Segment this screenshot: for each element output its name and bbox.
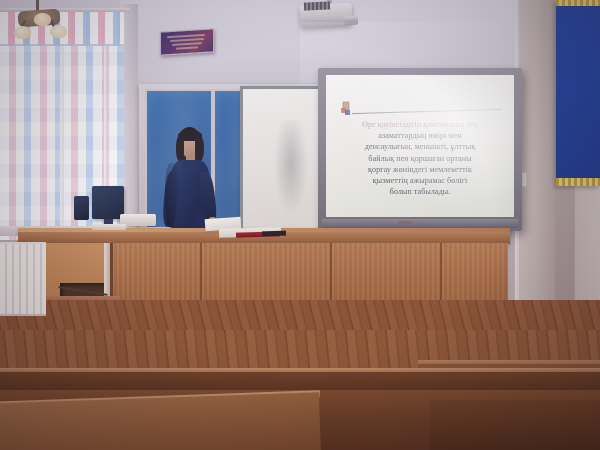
presenter-shading xyxy=(165,163,179,229)
notebook-stack[interactable] xyxy=(92,224,126,230)
slide-line: Өрт қауіпсіздігін қамтамасыз ету xyxy=(333,119,507,130)
projected-slide[interactable]: Өрт қауіпсіздігін қамтамасыз ету азаматт… xyxy=(326,75,514,217)
bulletin-gold-trim-bottom xyxy=(556,178,600,186)
projector-lens xyxy=(344,16,358,26)
raised-platform xyxy=(0,392,321,450)
bulletin-gold-trim-top xyxy=(556,0,600,6)
board-shadow xyxy=(274,120,308,216)
chandelier-shade xyxy=(14,26,31,39)
slide-line: денсаулығын, меншікті, ұлттық xyxy=(333,141,507,152)
chandelier-shade xyxy=(34,13,51,26)
projector-vent xyxy=(304,1,330,10)
computer-monitor[interactable] xyxy=(92,186,124,219)
blue-bulletin-board xyxy=(556,0,600,186)
slide-line: азаматтардың өмірі мен xyxy=(333,130,507,141)
secondary-screen[interactable] xyxy=(74,196,89,220)
presenter-hair-side xyxy=(176,135,184,161)
slide-body-text: Өрт қауіпсіздігін қамтамасыз ету азаматт… xyxy=(333,119,507,197)
chandelier-shade xyxy=(50,25,67,38)
slide-divider-rule xyxy=(352,109,502,114)
wall-pillar xyxy=(519,0,555,300)
presenter-hair-side xyxy=(195,135,204,162)
right-riser xyxy=(430,400,600,450)
classroom-photo: Өрт қауіпсіздігін қамтамасыз ету азаматт… xyxy=(0,0,600,450)
slide-line: болып табылады. xyxy=(333,186,507,197)
window-mullion xyxy=(60,20,64,240)
wall-banner xyxy=(160,28,214,55)
window-jamb xyxy=(122,4,138,244)
presenter-collar xyxy=(183,160,199,168)
slide-line: қызметтің ажырамас бөлігі xyxy=(333,175,507,186)
slide-line: байлық пен қоршаған ортаны xyxy=(333,153,507,164)
slide-line: қорғау жөніндегі мемлекеттік xyxy=(333,164,507,175)
dark-folder[interactable] xyxy=(262,231,286,237)
wall-radiator xyxy=(0,242,46,316)
pen-tray-marker xyxy=(398,221,412,224)
whiteboard-pen-tray[interactable] xyxy=(322,219,518,228)
